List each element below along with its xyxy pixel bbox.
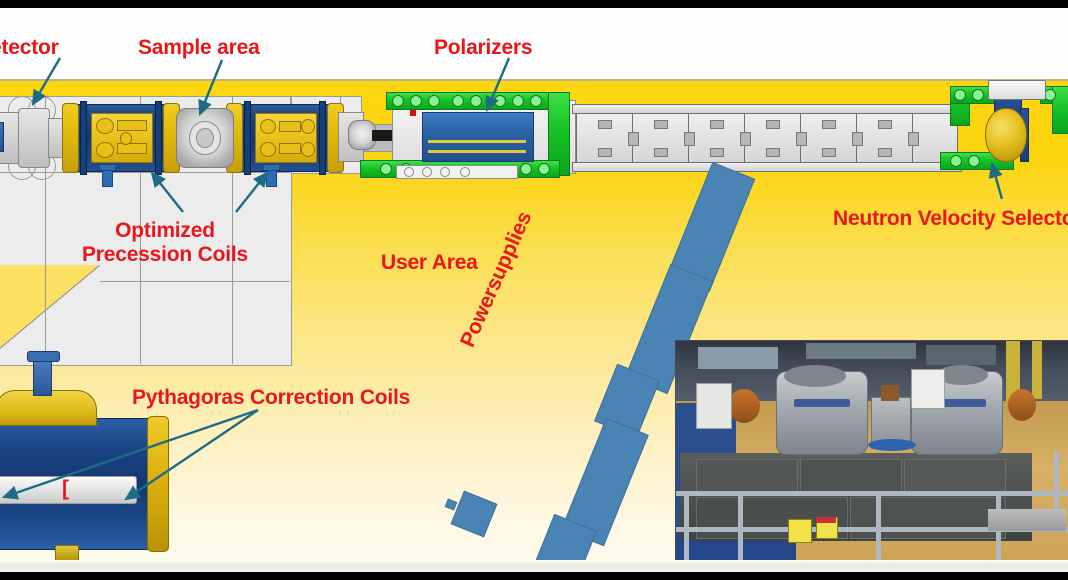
green-frame-dot	[494, 95, 506, 107]
vessel-flange	[319, 101, 326, 175]
vessel-flange	[80, 101, 87, 175]
detector-body	[18, 108, 50, 168]
neutron-guide-segment	[856, 110, 914, 168]
pythagoras-correction-coil-vessel: [	[0, 418, 160, 548]
green-frame-dot	[968, 155, 980, 167]
vessel-endcap	[147, 416, 169, 552]
figure-canvas: [	[0, 0, 1068, 580]
green-frame-dot	[470, 95, 482, 107]
label-user-area: User Area	[381, 251, 478, 275]
coil-bar	[279, 121, 301, 133]
photo-grating	[988, 509, 1066, 531]
coupling-gear	[348, 120, 374, 148]
guide-joint	[740, 132, 751, 146]
green-frame-dot	[410, 95, 422, 107]
photo-railing-post	[684, 491, 689, 563]
guide-joint	[852, 132, 863, 146]
guide-bolt	[766, 120, 780, 129]
photo-platform-tile	[850, 497, 1006, 539]
coil-knob	[120, 132, 132, 144]
vessel-endcap-left	[62, 103, 79, 173]
coil-knob	[96, 118, 115, 134]
guide-joint	[908, 132, 919, 146]
neutron-velocity-selector-drum	[985, 108, 1027, 162]
photo-platform-tile	[904, 459, 1006, 495]
letterbox-bottom	[0, 572, 1068, 580]
green-frame-dot	[428, 95, 440, 107]
detector-window	[0, 122, 4, 152]
photo-bg-panel	[926, 345, 996, 365]
cabin-corner-chamfer	[0, 265, 100, 365]
hall-bottom-floor-strip	[0, 560, 1068, 572]
green-frame-dot	[452, 95, 464, 107]
label-detector: etector	[0, 36, 59, 60]
guide-bolt	[654, 120, 668, 129]
guide-joint	[684, 132, 695, 146]
green-frame-dot	[530, 95, 542, 107]
green-frame-dot	[512, 95, 524, 107]
guide-bolt	[878, 148, 892, 157]
coil-marker: [	[62, 478, 69, 499]
green-frame-dot	[950, 155, 962, 167]
photo-radiation-sign	[788, 519, 812, 543]
coil-knob	[96, 142, 115, 158]
sample-chamber-ring	[196, 128, 214, 149]
instrument-hall-photograph	[675, 340, 1068, 574]
green-frame-dot	[380, 163, 392, 175]
guide-bolt	[822, 120, 836, 129]
guide-joint	[628, 132, 639, 146]
hall-wall-edge	[0, 79, 1068, 81]
vessel-valve	[102, 167, 113, 187]
label-optimized-precession-coils: Optimized Precession Coils	[58, 219, 272, 266]
coil-bar	[117, 143, 146, 155]
photo-warning-sign-header	[816, 517, 836, 523]
sample-chamber	[176, 108, 232, 166]
power-supply-unit	[451, 491, 498, 538]
coil-bar	[117, 120, 146, 132]
guide-bolt	[598, 120, 612, 129]
photo-copper-coil	[728, 389, 760, 423]
label-pythagoras-correction-coils: Pythagoras Correction Coils	[132, 386, 410, 410]
green-frame-dot	[954, 89, 966, 101]
photo-control-cabinet	[696, 383, 732, 429]
label-polarizers: Polarizers	[434, 36, 532, 60]
optimized-precession-coil-1	[68, 104, 174, 170]
nvs-top-mount	[988, 80, 1046, 100]
base-rail-wheel	[404, 167, 414, 177]
label-sample-area: Sample area	[138, 36, 260, 60]
photo-bg-panel	[806, 343, 916, 359]
photo-copper-coil	[881, 385, 899, 401]
guide-bolt	[710, 120, 724, 129]
coil-faceplate	[255, 113, 316, 163]
label-neutron-velocity-selector: Neutron Velocity Selecto	[833, 207, 1068, 231]
photo-railing-post	[1054, 451, 1059, 511]
letterbox-top	[0, 0, 1068, 8]
coil-knob	[301, 119, 315, 134]
photo-copper-coil	[1008, 389, 1036, 421]
photo-railing-top	[676, 491, 1068, 496]
green-frame-dot	[972, 89, 984, 101]
optimized-precession-coil-2	[232, 104, 338, 170]
vessel-flange	[155, 101, 162, 175]
photo-sample-base	[868, 439, 916, 451]
photo-railing-post	[738, 491, 743, 565]
vessel-valve	[266, 167, 277, 187]
coil-knob	[260, 142, 276, 157]
vessel-feedthrough	[33, 358, 52, 396]
beam-tube	[372, 130, 394, 141]
vessel-flange	[244, 101, 251, 175]
photo-control-cabinet	[911, 369, 945, 409]
photo-vessel-label	[794, 399, 850, 407]
coil-faceplate	[91, 113, 152, 163]
photo-bg-panel	[698, 347, 778, 369]
photo-yellow-column	[1032, 341, 1042, 399]
polarizer-indicator	[410, 110, 416, 116]
photo-vessel-lid	[784, 365, 846, 387]
photo-platform-tile	[800, 459, 902, 495]
guide-joint	[796, 132, 807, 146]
vessel-foot	[55, 545, 79, 561]
coil-knob	[301, 142, 315, 157]
photo-railing-post	[876, 491, 881, 567]
coil-bar	[279, 143, 301, 155]
guide-bolt	[878, 120, 892, 129]
guide-top-rail	[572, 104, 962, 114]
polarizer-stripe	[428, 140, 526, 143]
coil-knob	[260, 119, 276, 134]
cabin-grid-line	[100, 281, 290, 282]
photo-platform-tile	[696, 459, 798, 495]
green-frame-dot	[392, 95, 404, 107]
